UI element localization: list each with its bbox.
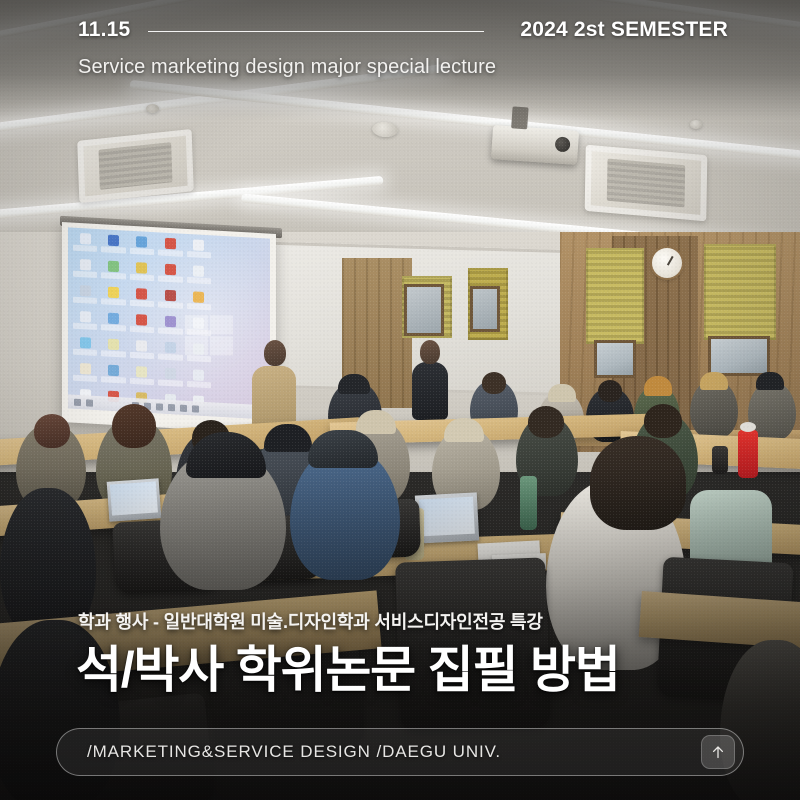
student-head [528, 406, 564, 438]
student-cap-icon [644, 376, 672, 396]
presenter-lecturer-head [264, 340, 286, 366]
desktop-icon [100, 337, 126, 362]
desktop-icon [186, 238, 212, 263]
window [470, 286, 500, 332]
bottle-cap-icon [740, 422, 756, 432]
department-label: /MARKETING&SERVICE DESIGN /DAEGU UNIV. [87, 742, 501, 762]
desktop-icon [129, 287, 155, 312]
window [708, 336, 770, 376]
student-head [112, 404, 156, 448]
desktop-icon [129, 339, 155, 364]
window [594, 340, 636, 378]
desktop-icon [129, 261, 155, 286]
desktop-icon [100, 259, 126, 284]
desktop-icon [186, 316, 212, 341]
poster-header: 11.15 2024 2st SEMESTER Service marketin… [0, 0, 800, 79]
student-cap-icon [356, 410, 396, 434]
desktop-icon [157, 288, 183, 313]
wall-clock-icon [652, 248, 682, 278]
desktop-icon [72, 310, 98, 335]
desktop-icon [100, 311, 126, 336]
desktop-icon [186, 368, 212, 393]
semester-label: 2024 2st SEMESTER [520, 18, 728, 42]
event-date: 11.15 [78, 18, 130, 42]
student-cap-icon [756, 372, 784, 390]
desktop-icon [157, 366, 183, 391]
student-head [644, 404, 682, 438]
projected-desktop [68, 227, 270, 419]
presenter-assistant [412, 362, 448, 420]
event-kicker: 학과 행사 - 일반대학원 미술.디자인학과 서비스디자인전공 특강 [56, 608, 744, 634]
header-row: 11.15 2024 2st SEMESTER [78, 18, 728, 42]
department-bar[interactable]: /MARKETING&SERVICE DESIGN /DAEGU UNIV. [56, 728, 744, 776]
page-title: 석/박사 학위논문 집필 방법 [56, 642, 744, 698]
student-cap-icon [338, 374, 370, 394]
window [404, 284, 444, 336]
desktop-icon [129, 235, 155, 260]
desktop-icon [129, 365, 155, 390]
desktop-icon [157, 262, 183, 287]
desktop-icon [186, 342, 212, 367]
desktop-icon [100, 363, 126, 388]
student-cap-icon [548, 384, 576, 402]
student-cap-icon [444, 418, 484, 442]
lecture-poster: 11.15 2024 2st SEMESTER Service marketin… [0, 0, 800, 800]
projection-screen [62, 222, 276, 434]
arrow-up-icon [710, 744, 726, 760]
scroll-up-button[interactable] [701, 735, 735, 769]
header-subtitle: Service marketing design major special l… [78, 56, 728, 79]
desktop-icon [72, 336, 98, 361]
desktop-icon-grid [72, 232, 212, 388]
poster-footer: 학과 행사 - 일반대학원 미술.디자인학과 서비스디자인전공 특강 석/박사 … [0, 608, 800, 800]
desktop-icon [129, 313, 155, 338]
window-blind [704, 244, 776, 340]
window-blind [586, 248, 644, 344]
desktop-icon [186, 290, 212, 315]
student-cap-icon [700, 372, 728, 390]
desktop-icon [72, 232, 98, 257]
header-divider-icon [148, 31, 484, 32]
desktop-icon [157, 340, 183, 365]
presenter-assistant-head [420, 340, 440, 364]
student-head [598, 380, 622, 402]
desktop-icon [186, 264, 212, 289]
air-conditioner-vent-icon [585, 145, 708, 222]
desktop-icon [100, 233, 126, 258]
student-head [482, 372, 506, 394]
desktop-icon [72, 258, 98, 283]
air-conditioner-vent-icon [77, 129, 194, 203]
ceiling-projector-icon [491, 125, 579, 165]
desktop-icon [157, 236, 183, 261]
desktop-icon [157, 314, 183, 339]
desktop-icon [72, 362, 98, 387]
student-head [34, 414, 70, 448]
ceiling-sensor-icon [690, 120, 702, 129]
desktop-icon [72, 284, 98, 309]
desktop-icon [100, 285, 126, 310]
